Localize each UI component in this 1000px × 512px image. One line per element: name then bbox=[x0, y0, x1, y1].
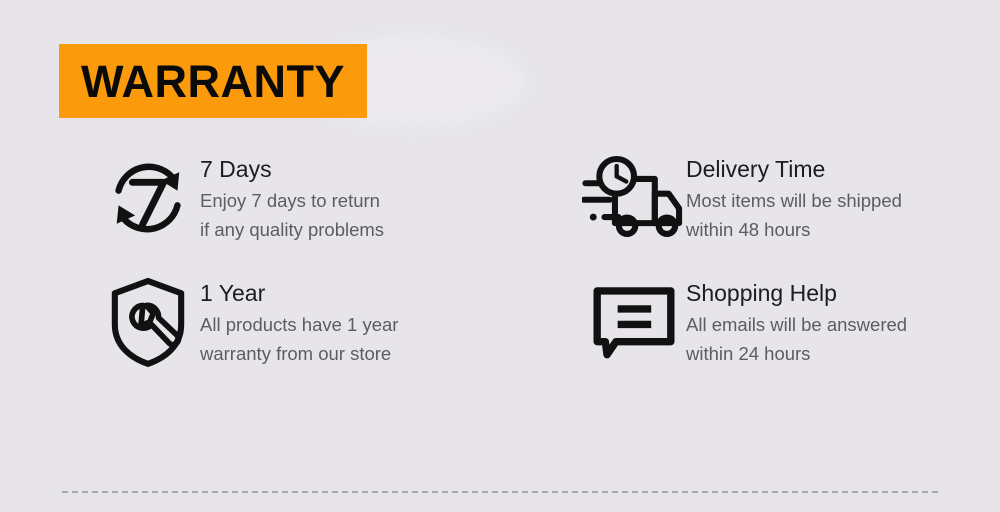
features-row-2: 1 Year All products have 1 year warranty… bbox=[0, 274, 1000, 370]
feature-line-2: within 24 hours bbox=[686, 340, 907, 369]
feature-text-one-year: 1 Year All products have 1 year warranty… bbox=[200, 274, 398, 368]
feature-line-1: Most items will be shipped bbox=[686, 187, 902, 216]
feature-text-7-days: 7 Days Enjoy 7 days to return if any qua… bbox=[200, 150, 384, 244]
feature-title: Shopping Help bbox=[686, 280, 907, 307]
feature-delivery-time: Delivery Time Most items will be shipped… bbox=[514, 150, 1000, 246]
delivery-truck-clock-icon bbox=[582, 150, 686, 246]
shield-wrench-icon bbox=[96, 274, 200, 370]
warranty-banner-label: WARRANTY bbox=[81, 59, 345, 104]
warranty-banner: WARRANTY bbox=[59, 44, 367, 118]
chat-bubble-icon bbox=[582, 274, 686, 370]
feature-line-2: if any quality problems bbox=[200, 216, 384, 245]
bottom-dashed-divider bbox=[62, 491, 938, 493]
features-grid: 7 Days Enjoy 7 days to return if any qua… bbox=[0, 150, 1000, 370]
features-row-1: 7 Days Enjoy 7 days to return if any qua… bbox=[0, 150, 1000, 246]
feature-text-delivery-time: Delivery Time Most items will be shipped… bbox=[686, 150, 902, 244]
feature-text-shopping-help: Shopping Help All emails will be answere… bbox=[686, 274, 907, 368]
feature-title: 1 Year bbox=[200, 280, 398, 307]
feature-line-2: within 48 hours bbox=[686, 216, 902, 245]
feature-one-year: 1 Year All products have 1 year warranty… bbox=[0, 274, 514, 370]
feature-shopping-help: Shopping Help All emails will be answere… bbox=[514, 274, 1000, 370]
feature-title: 7 Days bbox=[200, 156, 384, 183]
feature-7-days: 7 Days Enjoy 7 days to return if any qua… bbox=[0, 150, 514, 246]
feature-line-2: warranty from our store bbox=[200, 340, 398, 369]
return-7-days-icon bbox=[96, 150, 200, 246]
feature-line-1: All emails will be answered bbox=[686, 311, 907, 340]
feature-title: Delivery Time bbox=[686, 156, 902, 183]
feature-line-1: All products have 1 year bbox=[200, 311, 398, 340]
feature-line-1: Enjoy 7 days to return bbox=[200, 187, 384, 216]
warranty-infographic: WARRANTY 7 Days bbox=[0, 0, 1000, 512]
